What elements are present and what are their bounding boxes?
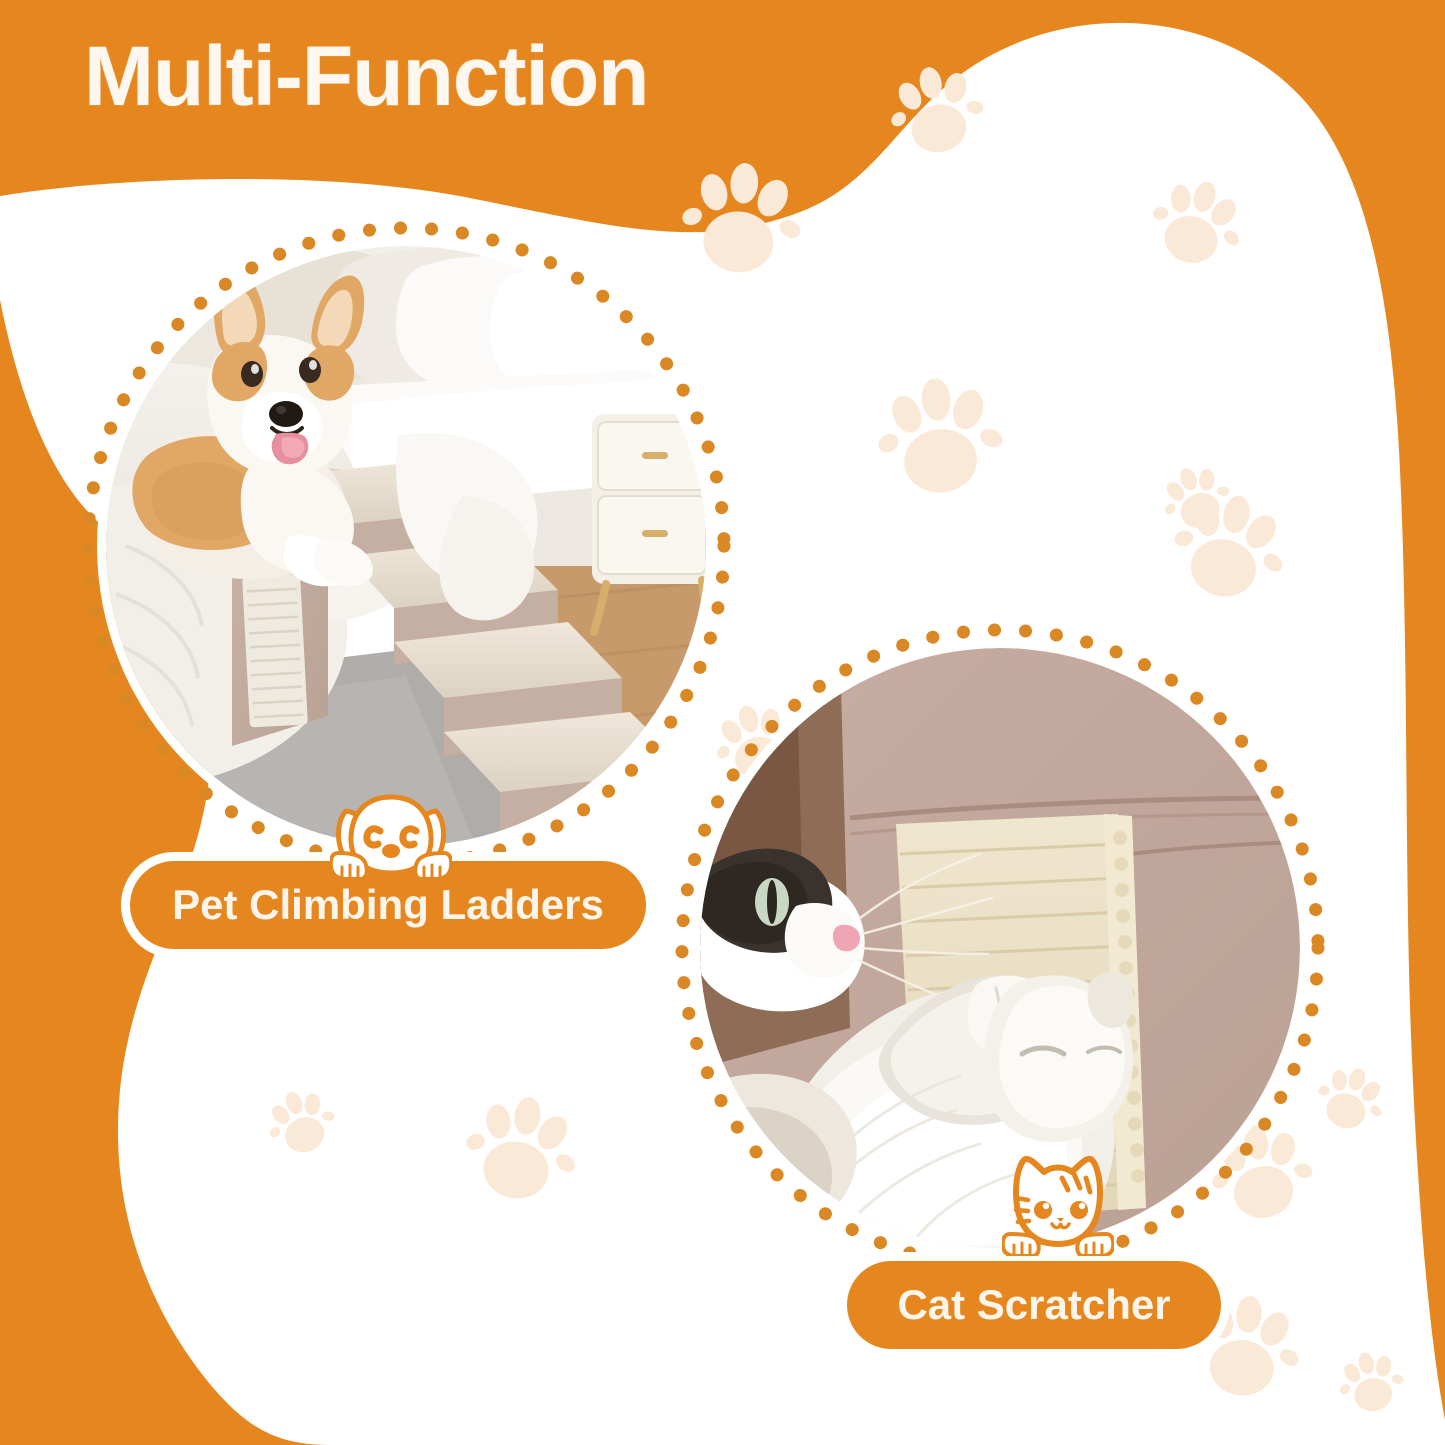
- cat-scratching-panel-photo: [700, 648, 1300, 1248]
- feature-label-pet-climbing-ladders[interactable]: Pet Climbing Ladders: [121, 852, 655, 958]
- feature-card-cat-scratcher: [670, 618, 1330, 1278]
- dog-on-pet-stairs-photo: [106, 246, 706, 846]
- feature-label-text: Cat Scratcher: [897, 1281, 1170, 1329]
- feature-card-pet-climbing-ladders: [76, 216, 736, 876]
- marketing-image-canvas: Multi-Function: [0, 0, 1445, 1445]
- feature-label-text: Pet Climbing Ladders: [172, 881, 604, 929]
- page-title: Multi-Function: [84, 28, 648, 125]
- feature-label-cat-scratcher[interactable]: Cat Scratcher: [838, 1252, 1230, 1358]
